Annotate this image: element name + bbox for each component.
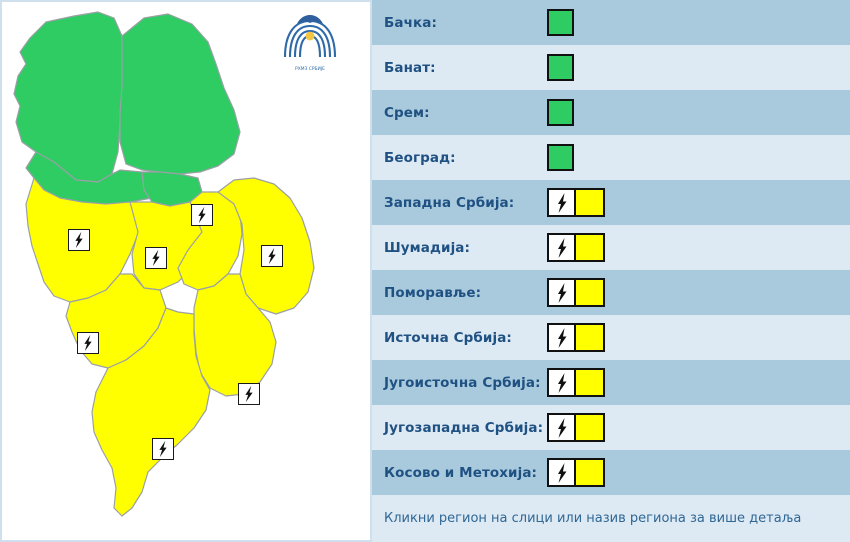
map-storm-marker (145, 247, 167, 269)
region-name-label[interactable]: Косово и Метохија: (372, 465, 547, 481)
yellow-level-swatch (576, 190, 603, 215)
yellow-level-swatch (576, 415, 603, 440)
table-row[interactable]: Бачка: (372, 0, 850, 45)
region-name-label[interactable]: Југозападна Србија: (372, 420, 547, 436)
table-row[interactable]: Београд: (372, 135, 850, 180)
lightning-bolt-icon (549, 190, 576, 215)
lightning-bolt-icon (549, 280, 576, 305)
map-hint-text: Кликни регион на слици или назив региона… (372, 495, 850, 542)
region-warning-table: Бачка: Банат: Срем: Београд: Западна Срб (372, 0, 850, 542)
table-row[interactable]: Југоисточна Србија: (372, 360, 850, 405)
region-status-badge (547, 144, 574, 171)
map-region-backa (14, 12, 122, 182)
yellow-level-swatch (576, 280, 603, 305)
region-status-badge (547, 278, 605, 307)
yellow-level-swatch (576, 325, 603, 350)
map-stage[interactable]: РХМЗ СРБИЈЕ (2, 2, 370, 540)
thunderstorm-yellow-badge (547, 368, 605, 397)
serbia-region-map[interactable] (2, 2, 370, 540)
table-row[interactable]: Косово и Метохија: (372, 450, 850, 495)
weather-warning-page: РХМЗ СРБИЈЕ (0, 0, 850, 542)
region-name-label[interactable]: Западна Србија: (372, 195, 547, 211)
region-name-label[interactable]: Банат: (372, 60, 547, 76)
map-storm-marker (68, 229, 90, 251)
yellow-level-swatch (576, 460, 603, 485)
region-name-label[interactable]: Бачка: (372, 15, 547, 31)
map-storm-marker (152, 438, 174, 460)
map-storm-marker (261, 245, 283, 267)
logo-caption: РХМЗ СРБИЈЕ (295, 66, 325, 72)
thunderstorm-yellow-badge (547, 413, 605, 442)
green-square-icon (547, 9, 574, 36)
region-name-label[interactable]: Источна Србија: (372, 330, 547, 346)
region-status-badge (547, 413, 605, 442)
region-status-badge (547, 323, 605, 352)
lightning-bolt-icon (549, 370, 576, 395)
thunderstorm-yellow-badge (547, 188, 605, 217)
region-status-badge (547, 458, 605, 487)
table-row[interactable]: Поморавље: (372, 270, 850, 315)
table-row[interactable]: Источна Србија: (372, 315, 850, 360)
map-region-banat (120, 14, 240, 174)
region-name-label[interactable]: Шумадија: (372, 240, 547, 256)
map-storm-marker (77, 332, 99, 354)
green-square-icon (547, 99, 574, 126)
table-row[interactable]: Југозападна Србија: (372, 405, 850, 450)
region-status-badge (547, 188, 605, 217)
green-square-icon (547, 54, 574, 81)
map-storm-marker (238, 383, 260, 405)
lightning-bolt-icon (549, 460, 576, 485)
region-name-label[interactable]: Срем: (372, 105, 547, 121)
region-status-badge (547, 368, 605, 397)
lightning-bolt-icon (549, 415, 576, 440)
thunderstorm-yellow-badge (547, 458, 605, 487)
map-panel: РХМЗ СРБИЈЕ (0, 0, 372, 542)
region-name-label[interactable]: Поморавље: (372, 285, 547, 301)
region-name-label[interactable]: Југоисточна Србија: (372, 375, 547, 391)
thunderstorm-yellow-badge (547, 278, 605, 307)
region-status-badge (547, 233, 605, 262)
lightning-bolt-icon (549, 325, 576, 350)
rhmz-logo-icon: РХМЗ СРБИЈЕ (279, 9, 341, 73)
table-row[interactable]: Банат: (372, 45, 850, 90)
region-status-badge (547, 9, 574, 36)
green-square-icon (547, 144, 574, 171)
yellow-level-swatch (576, 235, 603, 260)
thunderstorm-yellow-badge (547, 233, 605, 262)
region-name-label[interactable]: Београд: (372, 150, 547, 166)
region-status-badge (547, 99, 574, 126)
table-row[interactable]: Шумадија: (372, 225, 850, 270)
region-status-badge (547, 54, 574, 81)
map-storm-marker (191, 204, 213, 226)
yellow-level-swatch (576, 370, 603, 395)
table-row[interactable]: Срем: (372, 90, 850, 135)
table-row[interactable]: Западна Србија: (372, 180, 850, 225)
thunderstorm-yellow-badge (547, 323, 605, 352)
lightning-bolt-icon (549, 235, 576, 260)
